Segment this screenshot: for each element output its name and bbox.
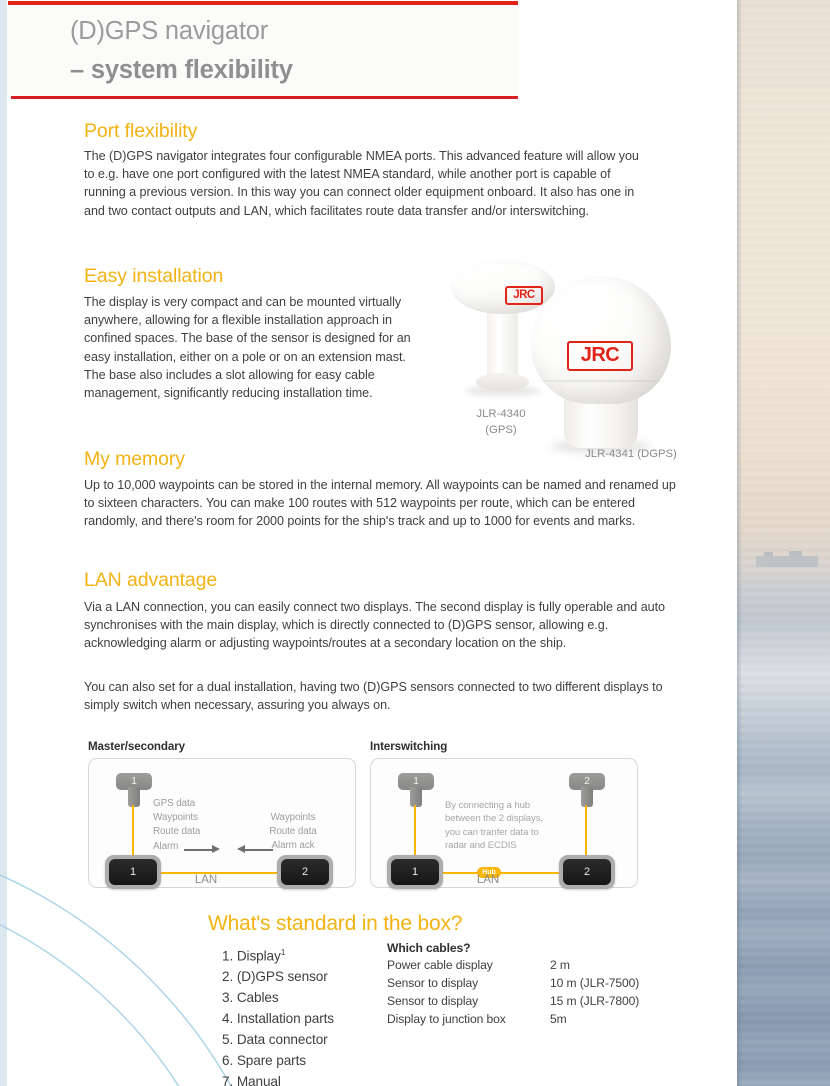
section-heading-port-flexibility: Port flexibility	[84, 120, 197, 143]
section-body-lan-advantage-2: You can also set for a dual installation…	[84, 678, 690, 714]
section-heading-lan-advantage: LAN advantage	[84, 569, 217, 592]
cable-length: 10 m (JLR-7500)	[550, 975, 639, 993]
diagram-note-interswitching: By connecting a hub between the 2 displa…	[445, 799, 549, 853]
arrow-right-icon	[184, 845, 220, 854]
list-item: 5. Data connector	[222, 1030, 412, 1051]
list-item: 6. Spare parts	[222, 1051, 412, 1072]
cable-name: Display to junction box	[387, 1011, 550, 1029]
antenna-seam	[537, 380, 665, 382]
cables-table-block: Which cables? Power cable display 2 m Se…	[387, 941, 687, 1029]
page-title: (D)GPS navigator – system flexibility	[70, 12, 520, 90]
cable-length: 5m	[550, 1011, 639, 1029]
table-row: Sensor to display 15 m (JLR-7800)	[387, 993, 639, 1011]
display-unit-2: 2	[277, 855, 333, 889]
gps-sensor-icon: 1	[116, 773, 152, 807]
lan-label: LAN	[443, 874, 533, 886]
diagram-group: Master/secondary 1 1 2	[88, 740, 636, 895]
section-heading-my-memory: My memory	[84, 448, 185, 471]
cables-table-heading: Which cables?	[387, 941, 687, 955]
box-contents-list: 1. Display1 2. (D)GPS sensor 3. Cables 4…	[222, 942, 412, 1086]
section-body-easy-installation: The display is very compact and can be m…	[84, 293, 430, 402]
lan-label: LAN	[161, 874, 251, 886]
cable-name: Sensor to display	[387, 975, 550, 993]
diagram-title-interswitching: Interswitching	[370, 740, 447, 753]
flow-line: GPS data	[153, 797, 233, 811]
list-item: 2. (D)GPS sensor	[222, 967, 412, 988]
display-unit-1: 1	[387, 855, 443, 889]
display-unit-2: 2	[559, 855, 615, 889]
caption-line2: (GPS)	[441, 422, 561, 438]
sensor-stem	[128, 787, 140, 807]
display-number: 2	[563, 859, 611, 885]
jrc-logo-icon: JRC	[567, 341, 633, 371]
gps-sensor-icon-1: 1	[398, 773, 434, 807]
brochure-page: (D)GPS navigator – system flexibility Po…	[0, 0, 830, 1086]
display-number: 2	[281, 859, 329, 885]
sensor-cable-2	[585, 805, 587, 861]
ship-silhouette	[756, 556, 818, 567]
sensor-cable	[132, 805, 134, 861]
table-row: Display to junction box 5m	[387, 1011, 639, 1029]
diagram-interswitching: 1 2 1 2 Hub By connecting a hub between …	[370, 758, 638, 888]
display-unit-1: 1	[105, 855, 161, 889]
antenna-foot	[476, 373, 529, 391]
section-body-port-flexibility: The (D)GPS navigator integrates four con…	[84, 147, 642, 220]
table-row: Power cable display 2 m	[387, 957, 639, 975]
photo-inner-shadow	[737, 0, 742, 1086]
header-rule-bottom	[11, 96, 518, 99]
cable-name: Power cable display	[387, 957, 550, 975]
sensor-number: 1	[398, 773, 434, 790]
page-title-line1: (D)GPS navigator	[70, 12, 520, 51]
list-item: 3. Cables	[222, 988, 412, 1009]
list-item: 7. Manual	[222, 1072, 412, 1086]
page-title-line2: – system flexibility	[70, 51, 520, 90]
section-heading-easy-installation: Easy installation	[84, 265, 223, 288]
flow-line: Route data	[249, 825, 337, 839]
antenna-dome	[531, 276, 671, 404]
diagram-master-secondary: 1 1 2 GPS data Waypoints Route data	[88, 758, 356, 888]
product-photos: JRC JRC JLR-4340 (GPS) JLR-4341 (DGPS)	[443, 258, 688, 458]
content-column: (D)GPS navigator – system flexibility Po…	[0, 0, 737, 1086]
sensor-number: 1	[116, 773, 152, 790]
cable-length: 15 m (JLR-7800)	[550, 993, 639, 1011]
list-item: 4. Installation parts	[222, 1009, 412, 1030]
water-texture	[737, 0, 830, 1086]
section-heading-whats-in-the-box: What's standard in the box?	[208, 912, 462, 936]
table-row: Sensor to display 10 m (JLR-7500)	[387, 975, 639, 993]
cable-length: 2 m	[550, 957, 639, 975]
cables-table: Power cable display 2 m Sensor to displa…	[387, 957, 639, 1029]
flow-line: Waypoints	[249, 811, 337, 825]
sensor-stem	[410, 787, 422, 807]
seascape-photo-strip	[737, 0, 830, 1086]
sensor-cable-1	[414, 805, 416, 861]
flow-line: Waypoints	[153, 811, 233, 825]
cable-name: Sensor to display	[387, 993, 550, 1011]
antenna-neck	[487, 304, 518, 382]
flow-line: Route data	[153, 825, 233, 839]
display-number: 1	[391, 859, 439, 885]
caption-line1: JLR-4340	[441, 406, 561, 422]
product-caption-jlr-4341: JLR-4341 (DGPS)	[561, 446, 701, 462]
sensor-stem	[581, 787, 593, 807]
display-number: 1	[109, 859, 157, 885]
header-rule-top	[8, 1, 518, 5]
section-body-lan-advantage-1: Via a LAN connection, you can easily con…	[84, 598, 690, 653]
diagram-title-master-secondary: Master/secondary	[88, 740, 185, 753]
gps-sensor-icon-2: 2	[569, 773, 605, 807]
section-body-my-memory: Up to 10,000 waypoints can be stored in …	[84, 476, 676, 531]
sensor-number: 2	[569, 773, 605, 790]
arrow-left-icon	[237, 845, 273, 854]
product-caption-jlr-4340: JLR-4340 (GPS)	[441, 406, 561, 438]
list-item: 1. Display1	[222, 942, 412, 967]
